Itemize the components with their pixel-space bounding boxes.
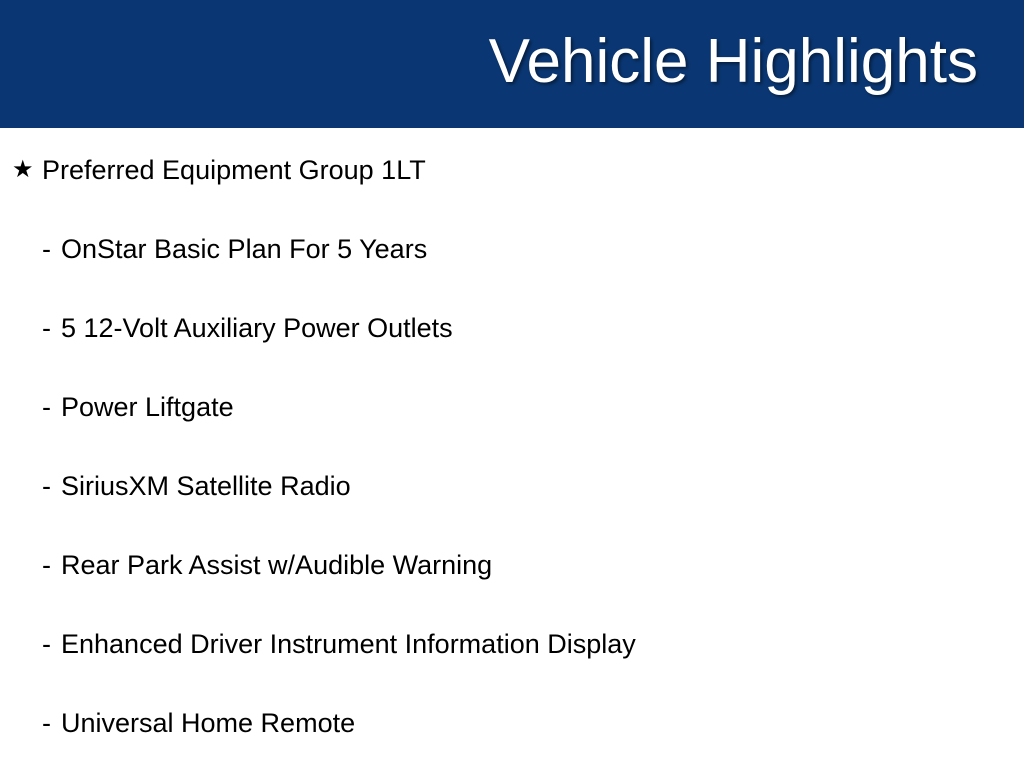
dash-bullet-icon: - — [42, 551, 61, 579]
list-item: - Rear Park Assist w/Audible Warning — [0, 523, 1024, 602]
dash-bullet-icon: - — [42, 709, 61, 737]
list-item-label: SiriusXM Satellite Radio — [61, 472, 351, 500]
list-item: - 5 12-Volt Auxiliary Power Outlets — [0, 286, 1024, 365]
list-item-label: Preferred Equipment Group 1LT — [42, 156, 426, 184]
dash-bullet-icon: - — [42, 314, 61, 342]
list-item-label: Rear Park Assist w/Audible Warning — [61, 551, 492, 579]
list-item: - Enhanced Driver Instrument Information… — [0, 602, 1024, 681]
list-item-label: Power Liftgate — [61, 393, 234, 421]
list-item-label: OnStar Basic Plan For 5 Years — [61, 235, 427, 263]
list-item: - SiriusXM Satellite Radio — [0, 444, 1024, 523]
dash-bullet-icon: - — [42, 472, 61, 500]
list-item: - Power Liftgate — [0, 365, 1024, 444]
page-title: Vehicle Highlights — [489, 31, 978, 93]
dash-bullet-icon: - — [42, 235, 61, 263]
presentation-slide: Vehicle Highlights ★ Preferred Equipment… — [0, 0, 1024, 768]
list-item-label: Universal Home Remote — [61, 709, 355, 737]
dash-bullet-icon: - — [42, 630, 61, 658]
list-item: ★ Preferred Equipment Group 1LT — [0, 128, 1024, 207]
list-item-label: 5 12-Volt Auxiliary Power Outlets — [61, 314, 453, 342]
vehicle-highlights-list: ★ Preferred Equipment Group 1LT - OnStar… — [0, 128, 1024, 760]
slide-body: ★ Preferred Equipment Group 1LT - OnStar… — [0, 128, 1024, 768]
slide-header-band: Vehicle Highlights — [0, 0, 1024, 128]
dash-bullet-icon: - — [42, 393, 61, 421]
star-bullet-icon: ★ — [12, 156, 42, 184]
list-item-label: Enhanced Driver Instrument Information D… — [61, 630, 636, 658]
list-item: - Universal Home Remote — [0, 681, 1024, 760]
list-item: - OnStar Basic Plan For 5 Years — [0, 207, 1024, 286]
